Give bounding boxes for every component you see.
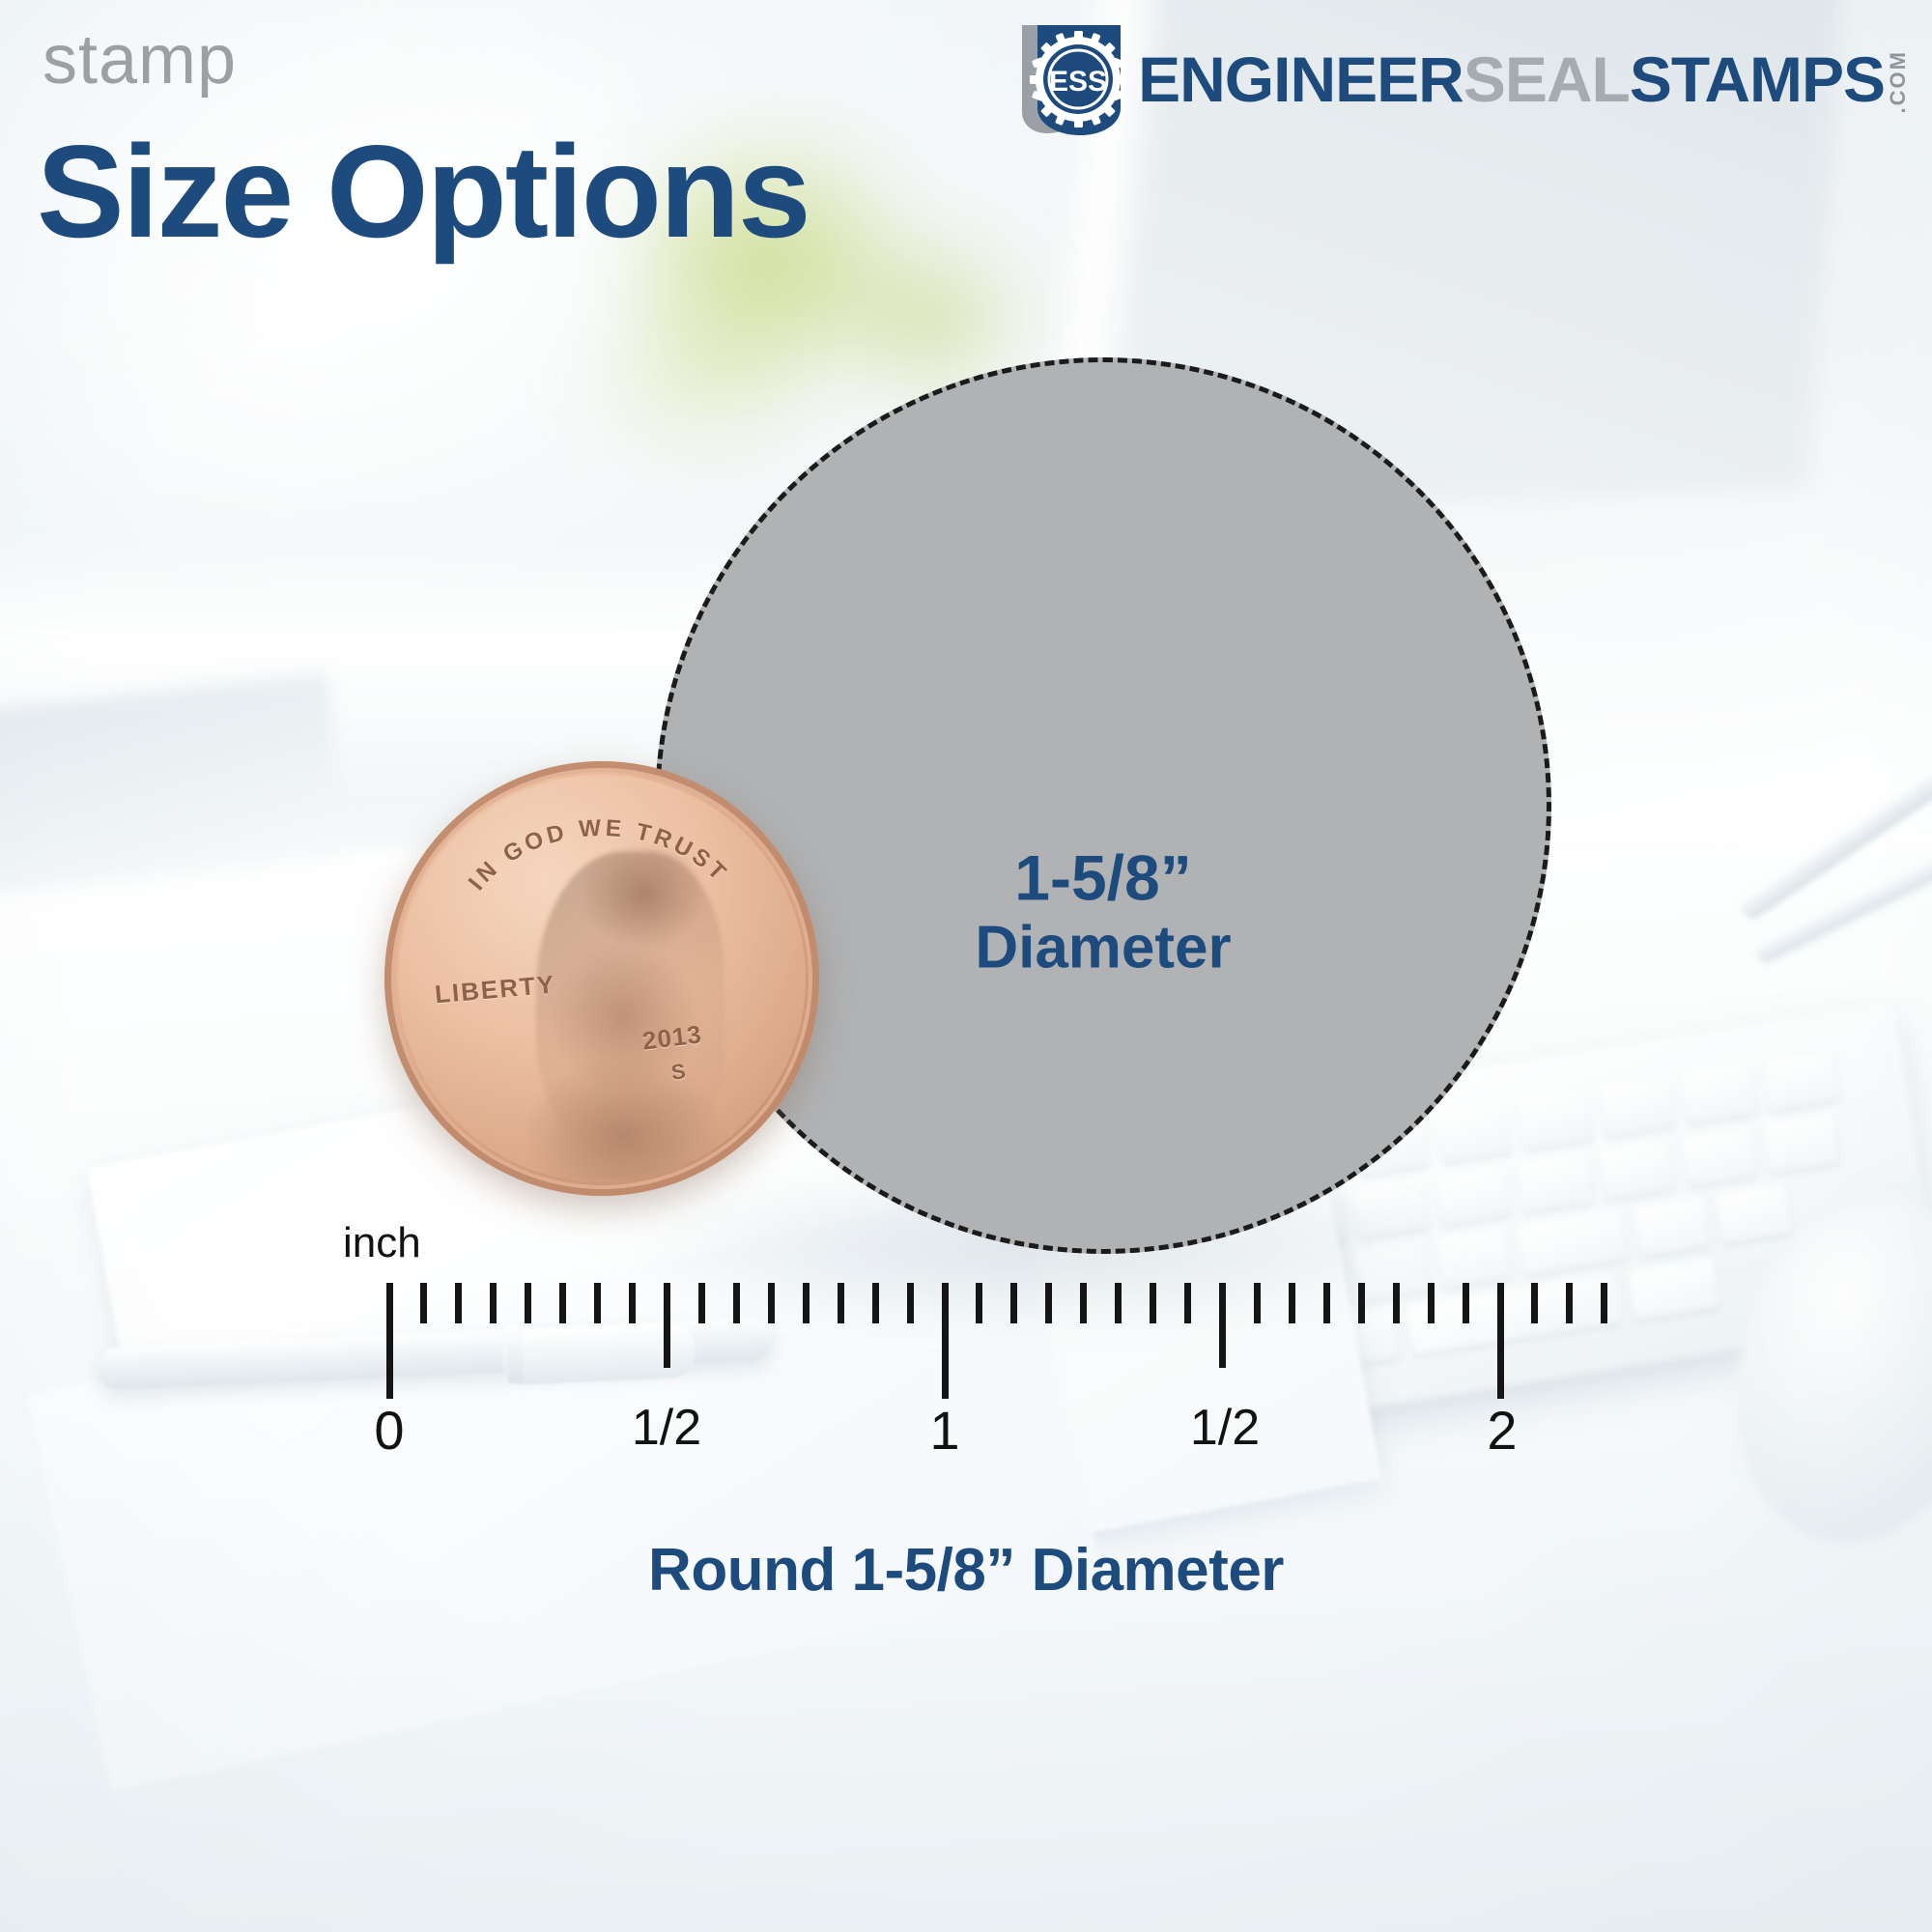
ruler-tick [1358,1283,1365,1323]
ruler-tick [629,1283,636,1323]
ruler: inch 01/211/22 [0,1198,1932,1507]
ruler-tick [872,1283,879,1323]
logo-text-tld: .COM [1888,50,1909,113]
ruler-tick [1115,1283,1122,1323]
ruler-tick [1497,1283,1504,1399]
ruler-tick [1080,1283,1087,1323]
ruler-tick [733,1283,740,1323]
ruler-number: 2 [1487,1399,1517,1462]
gear-shield-icon: ESS [1014,19,1134,139]
ruler-tick [1184,1283,1191,1323]
brand-word: stamp [43,25,237,95]
ruler-tick [1010,1283,1017,1323]
ruler-tick [1219,1283,1226,1368]
ruler-number: 1/2 [1190,1399,1260,1457]
ruler-unit-label: inch [343,1219,421,1267]
ruler-number: 0 [374,1399,404,1462]
size-circle-swatch: 1-5/8” Diameter [655,357,1551,1254]
penny-motto-arc: IN GOD WE TRUST [455,795,749,918]
ruler-tick [838,1283,844,1323]
ruler-number: 1/2 [632,1399,701,1457]
logo-text-stamps: STAMPS [1630,47,1885,111]
ruler-tick [664,1283,670,1368]
logo-text-engineer: ENGINEER [1138,47,1463,111]
ruler-tick [1150,1283,1156,1323]
penny-face: IN GOD WE TRUST LIBERTY 2013 S [398,775,806,1182]
ruler-tick [907,1283,914,1323]
ruler-tick [1531,1283,1538,1323]
ruler-number: 1 [929,1399,959,1462]
ruler-tick [1393,1283,1400,1323]
ruler-tick [942,1283,949,1399]
ruler-tick [455,1283,462,1323]
ruler-tick [525,1283,531,1323]
logo-text-seal: SEAL [1463,47,1630,111]
ruler-tick [768,1283,775,1323]
page-title: Size Options [37,126,810,257]
ruler-tick [1045,1283,1052,1323]
penny-reference-coin: IN GOD WE TRUST LIBERTY 2013 S [384,761,819,1196]
size-dimension-text: 1-5/8” [975,842,1231,914]
ruler-tick [594,1283,601,1323]
site-logo[interactable]: ESS ENGINEER SEAL STAMPS .COM [1014,21,1909,137]
ruler-tick [1428,1283,1435,1323]
ruler-tick [1254,1283,1261,1323]
svg-text:IN GOD WE TRUST: IN GOD WE TRUST [464,815,733,895]
ruler-tick [1566,1283,1573,1323]
size-diameter-text: Diameter [975,914,1231,980]
ruler-tick [490,1283,497,1323]
penny-mintmark-text: S [669,1060,687,1087]
svg-text:ESS: ESS [1049,66,1107,98]
ruler-tick [1601,1283,1607,1323]
logo-wordmark: ENGINEER SEAL STAMPS .COM [1138,44,1909,113]
ruler-tick [803,1283,810,1323]
ruler-tick [976,1283,982,1323]
ruler-tick [420,1283,427,1323]
ruler-tick [698,1283,705,1323]
ruler-tick [559,1283,566,1323]
ruler-tick [386,1283,393,1399]
size-caption: Round 1-5/8” Diameter [0,1536,1932,1605]
size-circle-label: 1-5/8” Diameter [975,842,1231,980]
ruler-tick [1323,1283,1330,1323]
ruler-tick [1463,1283,1469,1323]
ruler-tick [1289,1283,1295,1323]
